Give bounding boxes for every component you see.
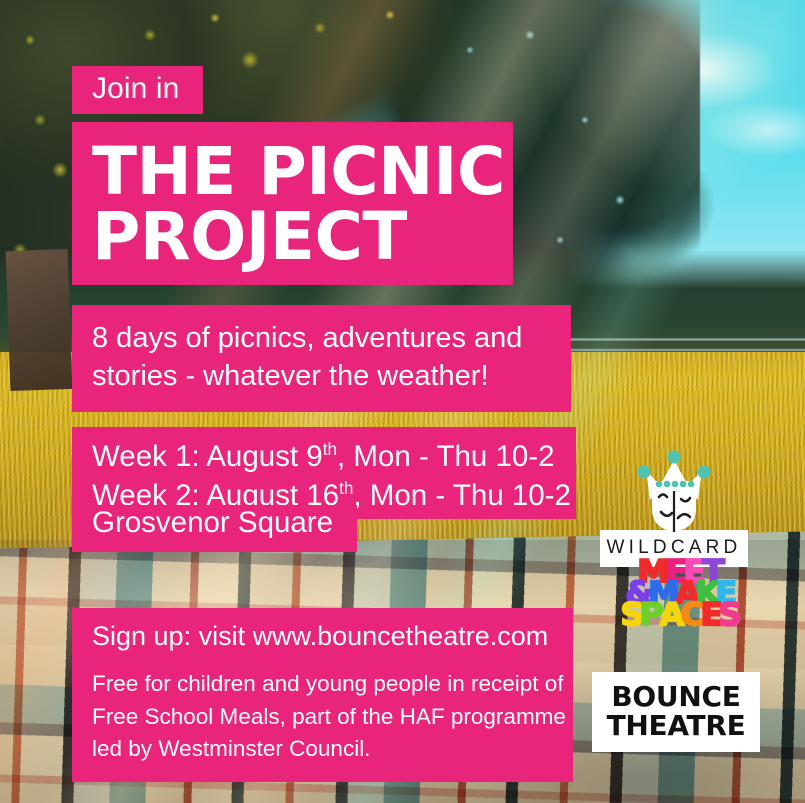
week1-suffix: , Mon - Thu 10-2	[337, 440, 555, 473]
mms-letter: P	[640, 603, 662, 628]
foreground-object	[6, 249, 73, 391]
bounce-line-2: THEATRE	[596, 711, 756, 740]
week2-ordinal: th	[339, 479, 353, 498]
venue-text: Grosvenor Square	[92, 505, 357, 542]
signup-block: Sign up: visit www.bouncetheatre.com Fre…	[72, 608, 573, 782]
logo-meet-and-make-spaces: MEET &MAKE SPACES	[612, 560, 748, 625]
jester-mask-icon	[600, 448, 748, 534]
headline-line-2: PROJECT	[92, 205, 513, 270]
eyebrow-block: Join in	[72, 66, 203, 114]
poster-canvas: Join in THE PICNIC PROJECT 8 days of pic…	[0, 0, 805, 803]
signup-heading[interactable]: Sign up: visit www.bouncetheatre.com	[92, 620, 573, 652]
signup-body-line-1: Free for children and young people in re…	[92, 668, 573, 700]
venue-block: Grosvenor Square	[72, 505, 357, 552]
week1-prefix: Week 1: August 9	[92, 440, 323, 473]
logo-wildcard: WILDCARD	[600, 448, 748, 567]
subtitle-line-1: 8 days of picnics, adventures and	[92, 319, 571, 357]
logo-bounce-theatre: BOUNCE THEATRE	[592, 672, 760, 752]
mms-letter: E	[700, 603, 720, 628]
headline-block: THE PICNIC PROJECT	[72, 122, 513, 285]
mms-letter: S	[620, 603, 641, 628]
signup-body-line-3: led by Westminster Council.	[92, 733, 573, 765]
date-week-1: Week 1: August 9th, Mon - Thu 10-2	[92, 437, 576, 476]
mms-letter: A	[659, 603, 682, 628]
mms-row-3: SPACES	[612, 603, 748, 628]
bounce-line-1: BOUNCE	[596, 682, 756, 711]
signup-body-line-2: Free School Meals, part of the HAF progr…	[92, 701, 573, 733]
headline-line-1: THE PICNIC	[92, 140, 513, 205]
mms-letter: S	[718, 603, 739, 628]
week1-ordinal: th	[323, 440, 337, 459]
subtitle-block: 8 days of picnics, adventures and storie…	[72, 305, 571, 412]
mms-letter: C	[680, 603, 702, 628]
eyebrow-text: Join in	[92, 74, 179, 104]
week2-suffix: , Mon - Thu 10-2	[353, 479, 571, 512]
subtitle-line-2: stories - whatever the weather!	[92, 357, 571, 395]
